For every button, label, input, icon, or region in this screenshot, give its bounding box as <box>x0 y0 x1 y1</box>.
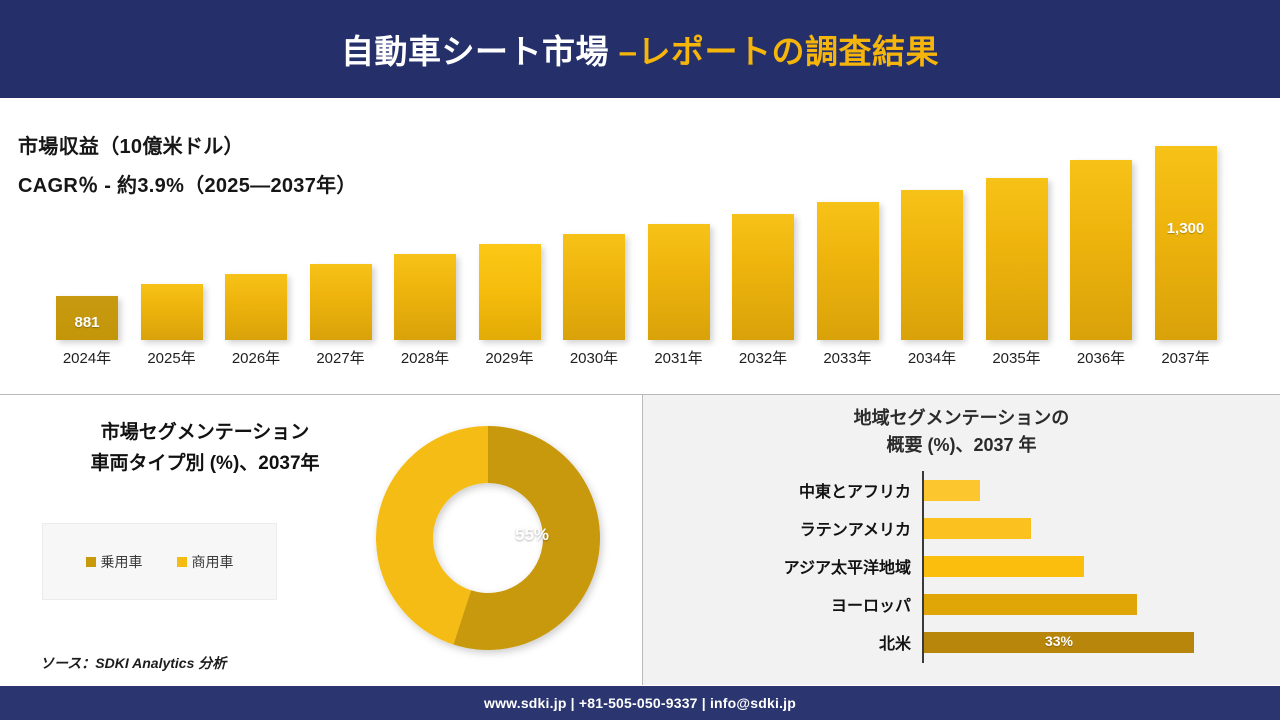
infographic-root: 自動車シート市場 –レポートの調査結果 市場収益（10億米ドル） CAGR％ -… <box>0 0 1280 720</box>
legend-label-commercial: 商用車 <box>192 552 234 572</box>
page-title: 自動車シート市場 –レポートの調査結果 <box>341 25 939 73</box>
regional-title: 地域セグメンテーションの 概要 (%)、2037 年 <box>643 405 1280 459</box>
revenue-bar-x-label: 2027年 <box>298 347 384 368</box>
donut-value-label: 55% <box>515 525 549 545</box>
revenue-bar-column: 881 <box>56 296 118 340</box>
revenue-bar-column <box>1070 160 1132 340</box>
regional-title-line1: 地域セグメンテーションの <box>854 408 1070 428</box>
donut-legend: 乗用車 商用車 <box>42 523 277 600</box>
page-header: 自動車シート市場 –レポートの調査結果 <box>0 0 1280 98</box>
segmentation-title: 市場セグメンテーション 車両タイプ別 (%)、2037年 <box>40 417 370 479</box>
revenue-bar <box>732 214 794 340</box>
regional-bar <box>924 594 1137 615</box>
page-footer: www.sdki.jp | +81-505-050-9337 | info@sd… <box>0 686 1280 720</box>
page-title-accent: –レポートの調査結果 <box>619 33 939 70</box>
revenue-bar-x-label: 2037年 <box>1143 347 1229 368</box>
revenue-bar-value-label: 1,300 <box>1155 220 1217 237</box>
revenue-bar-column <box>732 214 794 340</box>
regional-bar-value-label: 33% <box>924 633 1194 649</box>
revenue-bar-column <box>901 190 963 340</box>
revenue-bar <box>648 224 710 340</box>
revenue-bar-column <box>479 244 541 340</box>
revenue-bar <box>1070 160 1132 340</box>
revenue-bar-column <box>225 274 287 340</box>
regional-bar-label: ラテンアメリカ <box>643 516 911 540</box>
regional-bar-label: 北米 <box>643 630 911 654</box>
revenue-bar: 881 <box>56 296 118 340</box>
revenue-bar <box>986 178 1048 340</box>
regional-bar-row: 中東とアフリカ <box>643 471 1280 509</box>
regional-bar-row: 北米33% <box>643 623 1280 661</box>
revenue-bar-x-label: 2026年 <box>213 347 299 368</box>
revenue-bar-x-label: 2031年 <box>636 347 722 368</box>
revenue-bar-column <box>310 264 372 340</box>
revenue-bar-column <box>563 234 625 340</box>
revenue-bar-x-label: 2036年 <box>1058 347 1144 368</box>
source-note: ソース：SDKI Analytics 分析 <box>40 653 226 673</box>
revenue-bar-x-label: 2024年 <box>44 347 130 368</box>
revenue-bar-column <box>141 284 203 340</box>
regional-bar <box>924 480 980 501</box>
revenue-bar-column <box>817 202 879 340</box>
revenue-bar-column <box>394 254 456 340</box>
revenue-bar-x-label: 2030年 <box>551 347 637 368</box>
regional-segmentation-panel: 地域セグメンテーションの 概要 (%)、2037 年 中東とアフリカラテンアメリ… <box>643 395 1280 685</box>
revenue-bar-value-label: 881 <box>56 314 118 331</box>
revenue-bar-column <box>986 178 1048 340</box>
vehicle-type-segmentation-panel: 市場セグメンテーション 車両タイプ別 (%)、2037年 乗用車 商用車 <box>0 395 642 685</box>
revenue-bar-chart-section: 市場収益（10億米ドル） CAGR％ - 約3.9%（2025―2037年） 8… <box>0 102 1280 394</box>
revenue-bar <box>310 264 372 340</box>
revenue-bar-column: 1,300 <box>1155 146 1217 340</box>
legend-item-passenger: 乗用車 <box>86 552 143 572</box>
revenue-bar <box>225 274 287 340</box>
legend-swatch-icon-commercial <box>177 557 187 567</box>
page-title-main: 自動車シート市場 <box>341 33 619 70</box>
legend-item-commercial: 商用車 <box>177 552 234 572</box>
footer-contact-text: www.sdki.jp | +81-505-050-9337 | info@sd… <box>484 695 796 711</box>
regional-title-line2: 概要 (%)、2037 年 <box>886 435 1036 455</box>
revenue-bar <box>817 202 879 340</box>
revenue-bar-x-label: 2029年 <box>467 347 553 368</box>
regional-bar-label: ヨーロッパ <box>643 592 911 616</box>
regional-bar <box>924 518 1031 539</box>
regional-bar-label: 中東とアフリカ <box>643 478 911 502</box>
revenue-bar-x-label: 2025年 <box>129 347 215 368</box>
revenue-bars-container: 8812024年2025年2026年2027年2028年2029年2030年20… <box>48 138 1244 374</box>
legend-label-passenger: 乗用車 <box>101 552 143 572</box>
regional-bar-row: ラテンアメリカ <box>643 509 1280 547</box>
revenue-bar-x-label: 2032年 <box>720 347 806 368</box>
legend-swatch-icon-passenger <box>86 557 96 567</box>
regional-bar: 33% <box>924 632 1194 653</box>
vehicle-type-donut-chart: 55% <box>363 413 613 663</box>
revenue-bar <box>901 190 963 340</box>
regional-bar-row: ヨーロッパ <box>643 585 1280 623</box>
revenue-bar <box>479 244 541 340</box>
regional-bar <box>924 556 1084 577</box>
donut-svg <box>363 413 613 663</box>
revenue-bar-x-label: 2034年 <box>889 347 975 368</box>
revenue-bar-column <box>648 224 710 340</box>
revenue-bar-x-label: 2033年 <box>805 347 891 368</box>
regional-bar-chart: 中東とアフリカラテンアメリカアジア太平洋地域ヨーロッパ北米33% <box>643 471 1280 671</box>
revenue-bar-x-label: 2035年 <box>974 347 1060 368</box>
segmentation-title-line1: 市場セグメンテーション <box>101 422 310 443</box>
revenue-bar <box>141 284 203 340</box>
revenue-bar <box>394 254 456 340</box>
revenue-bar: 1,300 <box>1155 146 1217 340</box>
regional-bar-label: アジア太平洋地域 <box>643 554 911 578</box>
revenue-bar-x-label: 2028年 <box>382 347 468 368</box>
revenue-bar <box>563 234 625 340</box>
segmentation-title-line2: 車両タイプ別 (%)、2037年 <box>90 453 319 474</box>
regional-bar-row: アジア太平洋地域 <box>643 547 1280 585</box>
